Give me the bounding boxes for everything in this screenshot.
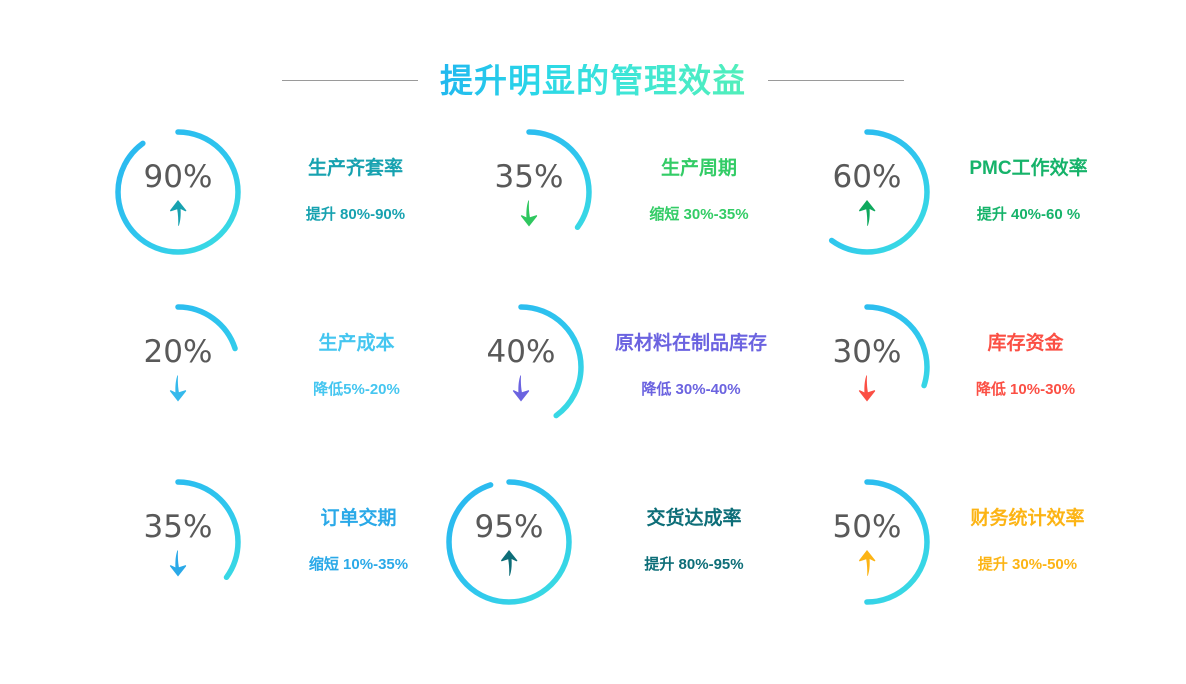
metric-name: 生产齐套率 — [270, 158, 441, 181]
metric-delta: 提升 40%-60 % — [951, 206, 1106, 224]
metric-delta: 提升 30%-50% — [949, 556, 1106, 574]
metric-card: 50%财务统计效率提升 30%-50% — [781, 474, 1106, 649]
metric-card: 95%交货达成率提升 80%-95% — [441, 474, 781, 649]
arrow-down-icon — [856, 373, 878, 403]
arrow-down-icon — [510, 373, 532, 403]
metric-delta: 降低5%-20% — [272, 381, 441, 399]
metric-info: 原材料在制品库存降低 30%-40% — [601, 299, 781, 399]
metric-card: 60%PMC工作效率提升 40%-60 % — [781, 124, 1106, 299]
metric-info: 交货达成率提升 80%-95% — [607, 474, 781, 574]
metric-info: 生产成本降低5%-20% — [272, 299, 441, 399]
metric-delta: 缩短 30%-35% — [617, 206, 781, 224]
trend-arrow — [110, 373, 246, 403]
progress-gauge: 50% — [799, 474, 935, 610]
metric-delta: 降低 30%-40% — [601, 381, 781, 399]
metric-card: 35%生产周期缩短 30%-35% — [441, 124, 781, 299]
gauge-value: 50% — [799, 512, 935, 543]
progress-gauge: 40% — [453, 299, 589, 435]
arrow-up-icon — [498, 548, 520, 578]
arrow-up-icon — [167, 198, 189, 228]
arrow-down-icon — [167, 373, 189, 403]
progress-gauge: 30% — [799, 299, 935, 435]
metric-name: 订单交期 — [276, 508, 441, 531]
metric-delta: 提升 80%-90% — [270, 206, 441, 224]
metric-name: 生产周期 — [617, 158, 781, 181]
trend-arrow — [453, 373, 589, 403]
metric-info: 库存资金降低 10%-30% — [945, 299, 1106, 399]
metric-card: 35%订单交期缩短 10%-35% — [96, 474, 441, 649]
gauge-value: 60% — [799, 162, 935, 193]
arrow-down-icon — [167, 548, 189, 578]
arrow-up-icon — [856, 198, 878, 228]
metric-name: 原材料在制品库存 — [601, 333, 781, 356]
gauge-value: 35% — [461, 162, 597, 193]
metric-name: 财务统计效率 — [949, 508, 1106, 531]
metrics-grid: 90%生产齐套率提升 80%-90%35%生产周期缩短 30%-35%60%PM… — [96, 124, 1106, 649]
metric-delta: 提升 80%-95% — [607, 556, 781, 574]
metric-info: 生产周期缩短 30%-35% — [617, 124, 781, 224]
metric-name: 库存资金 — [945, 333, 1106, 356]
progress-gauge: 20% — [110, 299, 246, 435]
metric-info: 订单交期缩短 10%-35% — [276, 474, 441, 574]
progress-gauge: 95% — [441, 474, 577, 610]
metric-card: 30%库存资金降低 10%-30% — [781, 299, 1106, 474]
metric-info: PMC工作效率提升 40%-60 % — [951, 124, 1106, 224]
arrow-up-icon — [856, 548, 878, 578]
metric-name: 交货达成率 — [607, 508, 781, 531]
progress-gauge: 35% — [110, 474, 246, 610]
metric-name: PMC工作效率 — [951, 158, 1106, 181]
arrow-down-icon — [518, 198, 540, 228]
trend-arrow — [799, 548, 935, 578]
progress-gauge: 35% — [461, 124, 597, 260]
trend-arrow — [110, 198, 246, 228]
page-header: 提升明显的管理效益 — [0, 50, 1186, 110]
page-title: 提升明显的管理效益 — [440, 64, 746, 97]
progress-gauge: 90% — [110, 124, 246, 260]
gauge-value: 40% — [453, 337, 589, 368]
trend-arrow — [110, 548, 246, 578]
title-rule-right — [768, 80, 904, 81]
metric-info: 生产齐套率提升 80%-90% — [270, 124, 441, 224]
trend-arrow — [441, 548, 577, 578]
trend-arrow — [799, 373, 935, 403]
metric-card: 90%生产齐套率提升 80%-90% — [96, 124, 441, 299]
gauge-value: 20% — [110, 337, 246, 368]
title-rule-left — [282, 80, 418, 81]
gauge-value: 35% — [110, 512, 246, 543]
metric-info: 财务统计效率提升 30%-50% — [949, 474, 1106, 574]
trend-arrow — [799, 198, 935, 228]
gauge-value: 95% — [441, 512, 577, 543]
metric-name: 生产成本 — [272, 333, 441, 356]
metric-delta: 缩短 10%-35% — [276, 556, 441, 574]
trend-arrow — [461, 198, 597, 228]
metric-card: 40%原材料在制品库存降低 30%-40% — [441, 299, 781, 474]
progress-gauge: 60% — [799, 124, 935, 260]
metric-delta: 降低 10%-30% — [945, 381, 1106, 399]
metric-card: 20%生产成本降低5%-20% — [96, 299, 441, 474]
gauge-value: 90% — [110, 162, 246, 193]
gauge-value: 30% — [799, 337, 935, 368]
